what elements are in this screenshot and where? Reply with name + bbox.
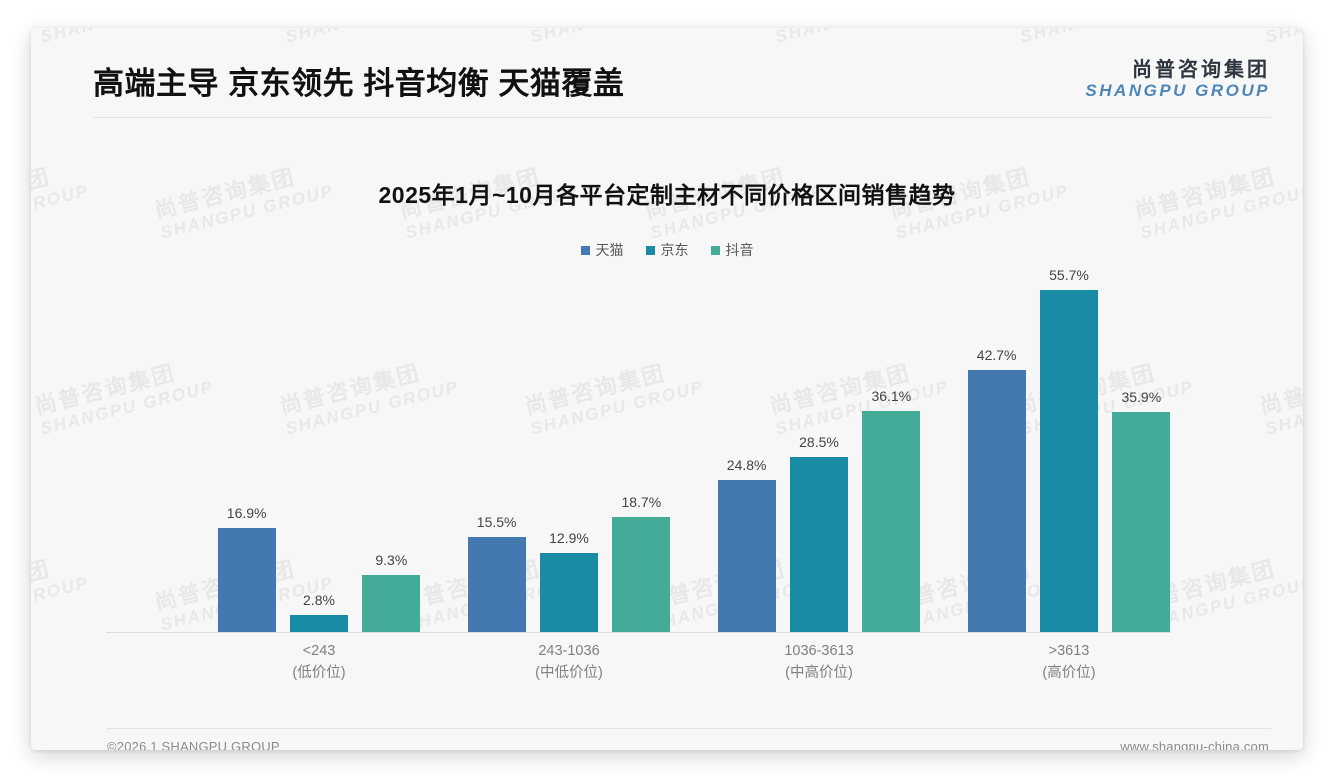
bar-rect[interactable] — [468, 537, 526, 632]
bar-京东[interactable]: 28.5% — [790, 264, 848, 632]
slide-header: 高端主导 京东领先 抖音均衡 天猫覆盖 尚普咨询集团 SHANGPU GROUP — [31, 28, 1303, 118]
legend-swatch-icon — [711, 246, 720, 255]
x-axis-tick-label: <243(低价位) — [292, 640, 345, 685]
legend-label: 抖音 — [726, 240, 754, 260]
bar-rect[interactable] — [540, 553, 598, 632]
bar-抖音[interactable]: 36.1% — [862, 264, 920, 632]
legend-item-天猫[interactable]: 天猫 — [581, 240, 624, 260]
bar-group: 24.8%28.5%36.1% — [718, 264, 921, 632]
bar-rect[interactable] — [1040, 290, 1098, 632]
bar-rect[interactable] — [612, 517, 670, 632]
x-axis-labels: <243(低价位)243-1036(中低价位)1036-3613(中高价位)>3… — [106, 640, 1211, 710]
bar-rect[interactable] — [862, 411, 920, 632]
x-label-range: 243-1036 — [535, 640, 603, 662]
watermark-text: 尚普咨询集团SHANGPU GROUP — [521, 739, 706, 750]
legend-item-抖音[interactable]: 抖音 — [711, 240, 754, 260]
bar-天猫[interactable]: 15.5% — [468, 264, 526, 632]
brand-name-en: SHANGPU GROUP — [1085, 82, 1270, 100]
bar-rect[interactable] — [362, 575, 420, 632]
bar-天猫[interactable]: 16.9% — [218, 264, 276, 632]
bar-value-label: 55.7% — [1049, 267, 1089, 283]
x-label-tier: (中低价位) — [535, 662, 603, 684]
chart-plot-area: 16.9%2.8%9.3%15.5%12.9%18.7%24.8%28.5%36… — [106, 264, 1211, 632]
x-label-range: <243 — [292, 640, 345, 662]
bar-value-label: 42.7% — [977, 347, 1017, 363]
bar-value-label: 12.9% — [549, 530, 589, 546]
bar-抖音[interactable]: 18.7% — [612, 264, 670, 632]
x-label-tier: (低价位) — [292, 662, 345, 684]
bar-value-label: 18.7% — [621, 494, 661, 510]
x-label-range: 1036-3613 — [784, 640, 853, 662]
bar-京东[interactable]: 12.9% — [540, 264, 598, 632]
footer-copyright: ©2026.1 SHANGPU GROUP — [107, 739, 280, 750]
slide-card: 尚普咨询集团SHANGPU GROUP尚普咨询集团SHANGPU GROUP尚普… — [31, 28, 1303, 750]
legend-label: 天猫 — [596, 240, 624, 260]
chart-legend: 天猫京东抖音 — [31, 240, 1303, 260]
brand-name-cn: 尚普咨询集团 — [1085, 60, 1270, 82]
footer-website: www.shangpu-china.com — [1120, 739, 1269, 750]
x-axis-tick-label: 1036-3613(中高价位) — [784, 640, 853, 685]
bar-京东[interactable]: 55.7% — [1040, 264, 1098, 632]
watermark-text: 尚普咨询集团SHANGPU GROUP — [1256, 347, 1303, 440]
legend-item-京东[interactable]: 京东 — [646, 240, 689, 260]
bar-rect[interactable] — [1112, 412, 1170, 632]
legend-label: 京东 — [661, 240, 689, 260]
x-axis-line — [106, 632, 1171, 633]
legend-swatch-icon — [581, 246, 590, 255]
bar-value-label: 9.3% — [375, 552, 407, 568]
x-axis-tick-label: >3613(高价位) — [1042, 640, 1095, 685]
bar-group: 15.5%12.9%18.7% — [468, 264, 671, 632]
brand-logo: 尚普咨询集团 SHANGPU GROUP — [1085, 60, 1270, 100]
bar-value-label: 16.9% — [227, 505, 267, 521]
bar-value-label: 35.9% — [1121, 389, 1161, 405]
bar-天猫[interactable]: 24.8% — [718, 264, 776, 632]
x-label-range: >3613 — [1042, 640, 1095, 662]
x-label-tier: (高价位) — [1042, 662, 1095, 684]
bar-rect[interactable] — [290, 615, 348, 632]
bar-value-label: 24.8% — [727, 457, 767, 473]
bar-value-label: 28.5% — [799, 434, 839, 450]
watermark-text: 尚普咨询集团SHANGPU GROUP — [31, 543, 91, 636]
legend-swatch-icon — [646, 246, 655, 255]
bar-value-label: 36.1% — [871, 388, 911, 404]
watermark-text: 尚普咨询集团SHANGPU GROUP — [276, 739, 461, 750]
page-title: 高端主导 京东领先 抖音均衡 天猫覆盖 — [93, 58, 624, 103]
bar-value-label: 15.5% — [477, 514, 517, 530]
bar-group: 16.9%2.8%9.3% — [218, 264, 421, 632]
bar-rect[interactable] — [718, 480, 776, 632]
bar-group: 42.7%55.7%35.9% — [968, 264, 1171, 632]
bar-value-label: 2.8% — [303, 592, 335, 608]
bar-京东[interactable]: 2.8% — [290, 264, 348, 632]
bar-rect[interactable] — [218, 528, 276, 632]
bar-抖音[interactable]: 9.3% — [362, 264, 420, 632]
bar-抖音[interactable]: 35.9% — [1112, 264, 1170, 632]
bar-rect[interactable] — [790, 457, 848, 632]
bar-rect[interactable] — [968, 370, 1026, 632]
footer-divider — [106, 728, 1271, 729]
bar-天猫[interactable]: 42.7% — [968, 264, 1026, 632]
watermark-text: 尚普咨询集团SHANGPU GROUP — [766, 739, 951, 750]
x-axis-tick-label: 243-1036(中低价位) — [535, 640, 603, 685]
chart-title: 2025年1月~10月各平台定制主材不同价格区间销售趋势 — [31, 176, 1303, 210]
x-label-tier: (中高价位) — [784, 662, 853, 684]
